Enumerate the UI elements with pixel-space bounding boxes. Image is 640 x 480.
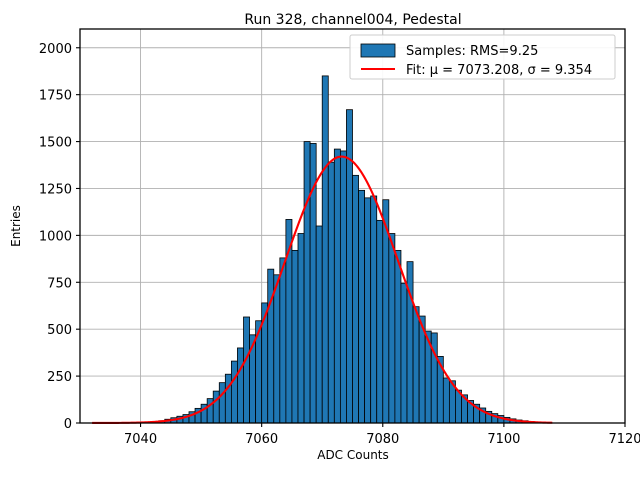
histogram-bar: [225, 374, 231, 423]
pedestal-histogram-chart: Run 328, channel004, Pedestal 7040706070…: [0, 0, 640, 480]
y-tick-label: 2000: [39, 42, 72, 57]
y-tick-label: 1250: [39, 182, 72, 197]
histogram-bar: [244, 317, 250, 423]
histogram-bar: [377, 220, 383, 423]
histogram-bar: [443, 378, 449, 423]
y-tick-label: 1750: [39, 89, 72, 104]
y-axis-label: Entries: [9, 205, 23, 247]
x-axis-label: ADC Counts: [317, 448, 389, 462]
y-tick-label: 0: [64, 417, 72, 432]
y-tick-label: 250: [47, 370, 72, 385]
legend-swatch-samples: [361, 44, 395, 57]
histogram-bar: [340, 151, 346, 423]
chart-title: Run 328, channel004, Pedestal: [244, 12, 461, 28]
histogram-bar: [346, 110, 352, 423]
y-tick-label: 750: [47, 276, 72, 291]
legend-label-samples: Samples: RMS=9.25: [406, 44, 538, 59]
histogram-bar: [237, 348, 243, 423]
histogram-bar: [395, 250, 401, 423]
histogram-bar: [219, 383, 225, 423]
histogram-bar: [389, 234, 395, 423]
histogram-bar: [316, 226, 322, 423]
x-tick-label: 7080: [366, 432, 399, 447]
histogram-bar: [292, 250, 298, 423]
histogram-bar: [413, 307, 419, 423]
histogram-bar: [365, 198, 371, 423]
histogram-bar: [268, 269, 274, 423]
chart-legend[interactable]: Samples: RMS=9.25 Fit: μ = 7073.208, σ =…: [350, 35, 615, 79]
histogram-bar: [401, 283, 407, 423]
figure-canvas: Run 328, channel004, Pedestal 7040706070…: [0, 0, 640, 480]
histogram-bar: [280, 258, 286, 423]
histogram-bar: [231, 361, 237, 423]
histogram-bar: [304, 142, 310, 423]
x-tick-label: 7040: [124, 432, 157, 447]
histogram-bar: [274, 275, 280, 423]
histogram-bar: [359, 190, 365, 423]
histogram-bar: [213, 391, 219, 423]
legend-label-fit: Fit: μ = 7073.208, σ = 9.354: [406, 63, 592, 78]
y-tick-label: 500: [47, 323, 72, 338]
histogram-bar: [353, 175, 359, 423]
y-tick-label: 1500: [39, 136, 72, 151]
x-tick-label: 7120: [608, 432, 640, 447]
histogram-bar: [334, 149, 340, 423]
histogram-bar: [328, 162, 334, 423]
histogram-bar: [298, 234, 304, 423]
x-tick-label: 7100: [487, 432, 520, 447]
histogram-bar: [322, 76, 328, 423]
histogram-bar: [371, 196, 377, 423]
x-tick-label: 7060: [245, 432, 278, 447]
y-tick-label: 1000: [39, 229, 72, 244]
